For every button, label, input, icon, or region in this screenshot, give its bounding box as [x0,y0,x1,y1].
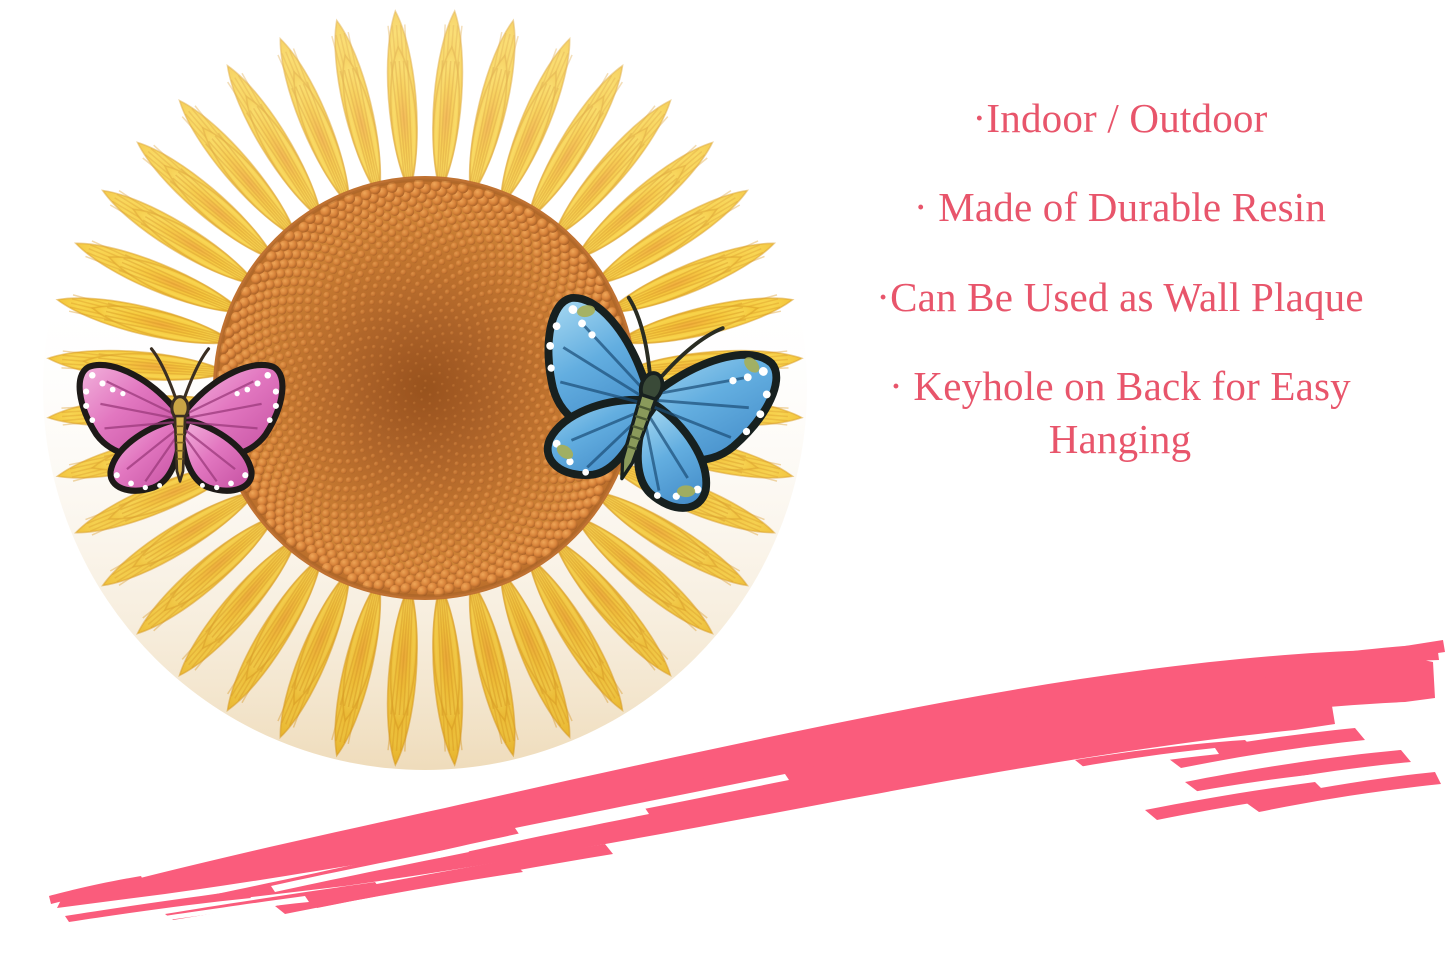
bullet-icon: · [876,274,890,320]
pink-brush-stroke [45,632,1445,922]
bullet-icon: · [889,363,913,409]
feature-item-wall-plaque: ·Can Be Used as Wall Plaque [820,271,1420,324]
feature-item-durable-resin: · Made of Durable Resin [820,181,1420,234]
feature-bullet-list: ·Indoor / Outdoor · Made of Durable Resi… [820,92,1420,466]
product-marketing-image: ·Indoor / Outdoor · Made of Durable Resi… [0,0,1445,965]
feature-label: Indoor / Outdoor [986,95,1267,141]
feature-label: Can Be Used as Wall Plaque [890,274,1364,320]
feature-label: Made of Durable Resin [938,184,1326,230]
bullet-icon: · [914,184,938,230]
feature-item-keyhole-hanging: · Keyhole on Back for Easy Hanging [820,360,1420,467]
feature-label: Keyhole on Back for Easy Hanging [913,363,1350,462]
bullet-icon: · [973,95,987,141]
feature-item-indoor-outdoor: ·Indoor / Outdoor [820,92,1420,145]
